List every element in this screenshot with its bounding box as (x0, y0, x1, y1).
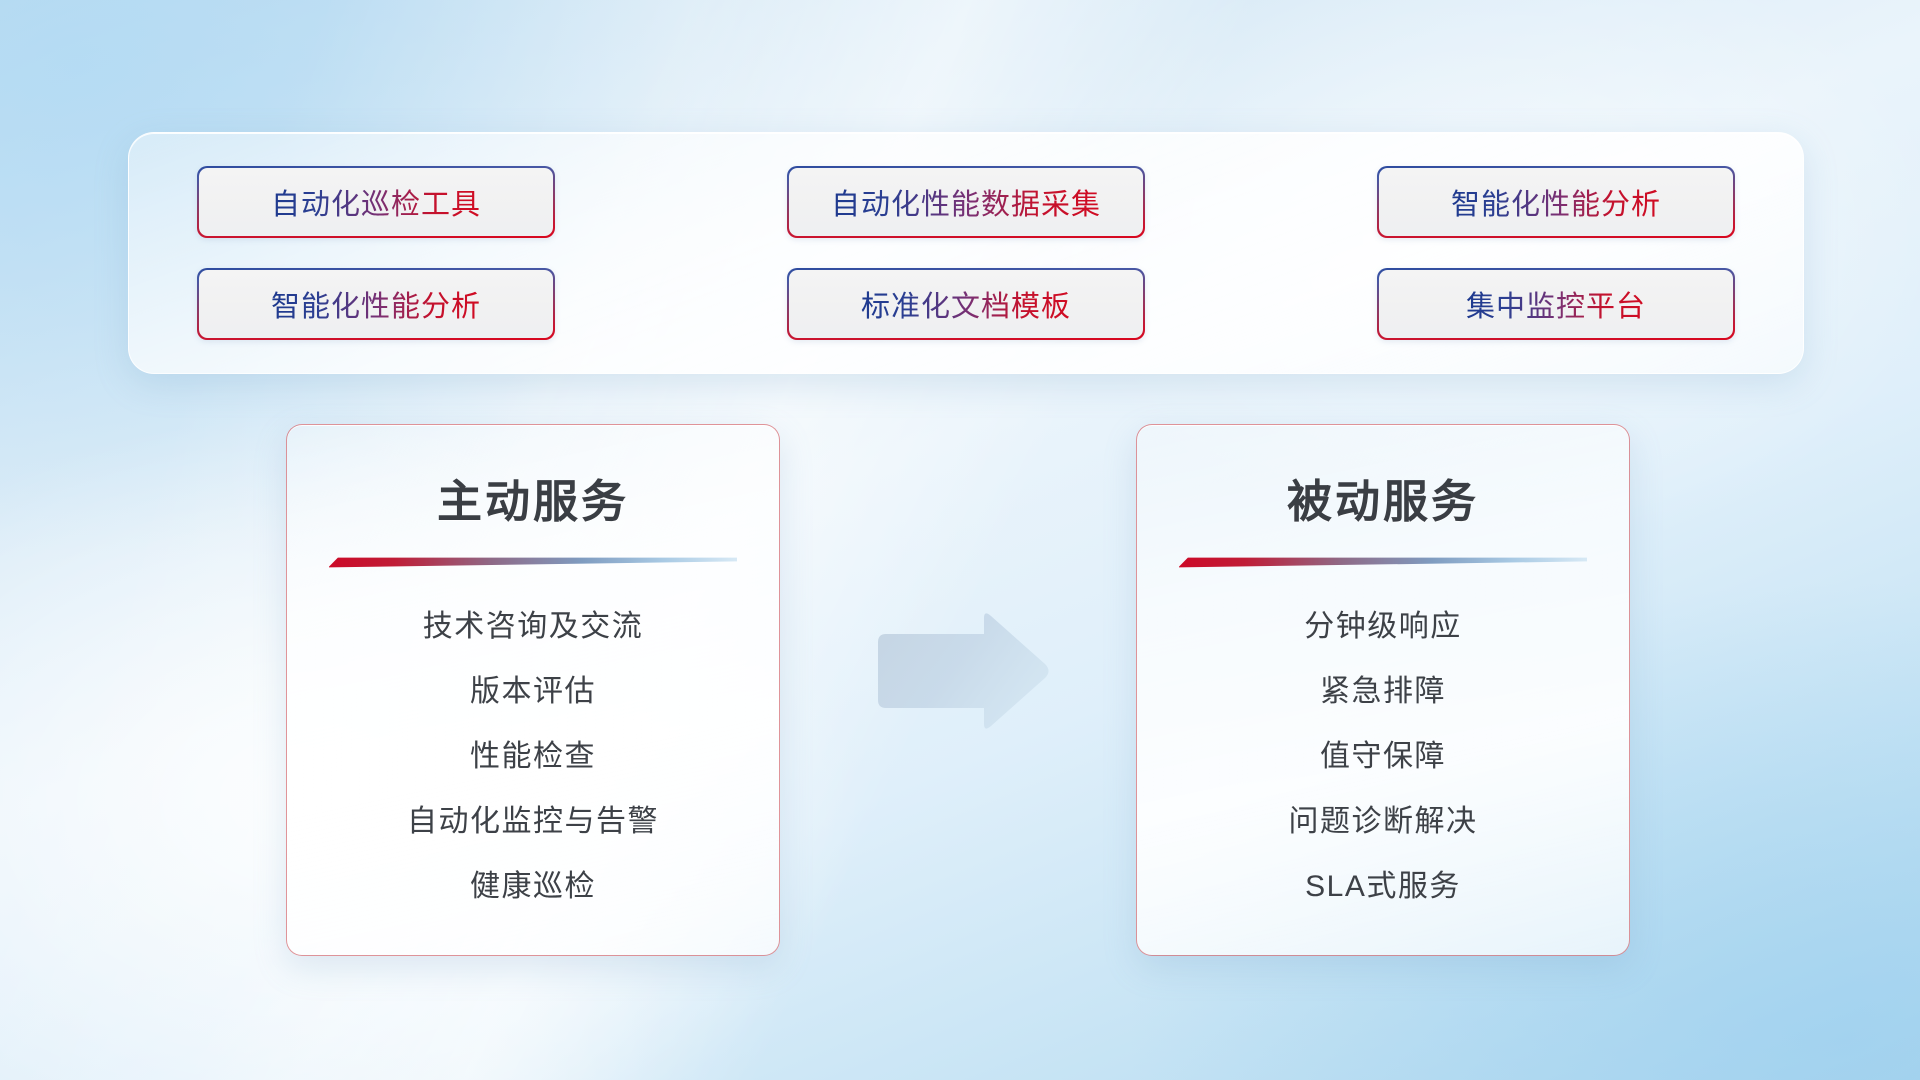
chip-label: 智能化性能分析 (1451, 181, 1661, 223)
card-title: 主动服务 (327, 465, 739, 530)
list-item: SLA式服务 (1177, 861, 1589, 905)
chip-label: 标准化文档模板 (861, 283, 1071, 325)
chip-inner: 集中监控平台 (1379, 270, 1734, 339)
chip-automated-performance-data-collection[interactable]: 自动化性能数据采集 (787, 166, 1145, 238)
list-item: 版本评估 (327, 666, 739, 710)
list-item: 技术咨询及交流 (327, 601, 739, 645)
reactive-service-card: 被动服务 分钟级响应 紧急排障 值守保障 (1136, 424, 1630, 956)
chip-standardized-document-template[interactable]: 标准化文档模板 (787, 268, 1145, 340)
chip-inner: 智能化性能分析 (1379, 168, 1734, 237)
capabilities-panel: 自动化巡检工具 自动化性能数据采集 智能化性能分析 智能化性能分析 (128, 132, 1804, 374)
chip-automated-inspection-tool[interactable]: 自动化巡检工具 (197, 166, 555, 238)
title-divider-left (329, 554, 737, 568)
card-title: 被动服务 (1177, 465, 1589, 530)
chip-intelligent-performance-analysis-left[interactable]: 智能化性能分析 (197, 268, 555, 340)
chip-label: 自动化性能数据采集 (831, 181, 1101, 223)
chip-inner: 智能化性能分析 (199, 270, 554, 339)
reactive-service-list: 分钟级响应 紧急排障 值守保障 问题诊断解决 SLA式服务 (1177, 574, 1589, 925)
title-divider-right (1179, 554, 1587, 568)
chip-inner: 自动化性能数据采集 (789, 168, 1144, 237)
list-item: 紧急排障 (1177, 666, 1589, 710)
list-item: 自动化监控与告警 (327, 796, 739, 840)
chip-inner: 标准化文档模板 (789, 270, 1144, 339)
list-item: 问题诊断解决 (1177, 796, 1589, 840)
chip-label: 集中监控平台 (1466, 283, 1646, 325)
right-arrow-icon (872, 612, 1052, 732)
chip-centralized-monitoring-platform[interactable]: 集中监控平台 (1377, 268, 1735, 340)
list-item: 健康巡检 (327, 861, 739, 905)
proactive-service-list: 技术咨询及交流 版本评估 性能检查 自动化监控与告警 健康巡检 (327, 574, 739, 925)
chip-label: 自动化巡检工具 (271, 181, 481, 223)
list-item: 值守保障 (1177, 731, 1589, 775)
chip-label: 智能化性能分析 (271, 283, 481, 325)
capabilities-row-1: 自动化巡检工具 自动化性能数据采集 智能化性能分析 (197, 166, 1735, 238)
list-item: 性能检查 (327, 731, 739, 775)
proactive-service-card: 主动服务 技术咨询及交流 版本评估 性能检查 (286, 424, 780, 956)
chip-intelligent-performance-analysis-right[interactable]: 智能化性能分析 (1377, 166, 1735, 238)
slide-canvas: 自动化巡检工具 自动化性能数据采集 智能化性能分析 智能化性能分析 (0, 0, 1920, 1080)
chip-inner: 自动化巡检工具 (199, 168, 554, 237)
list-item: 分钟级响应 (1177, 601, 1589, 645)
capabilities-row-2: 智能化性能分析 标准化文档模板 集中监控平台 (197, 268, 1735, 340)
